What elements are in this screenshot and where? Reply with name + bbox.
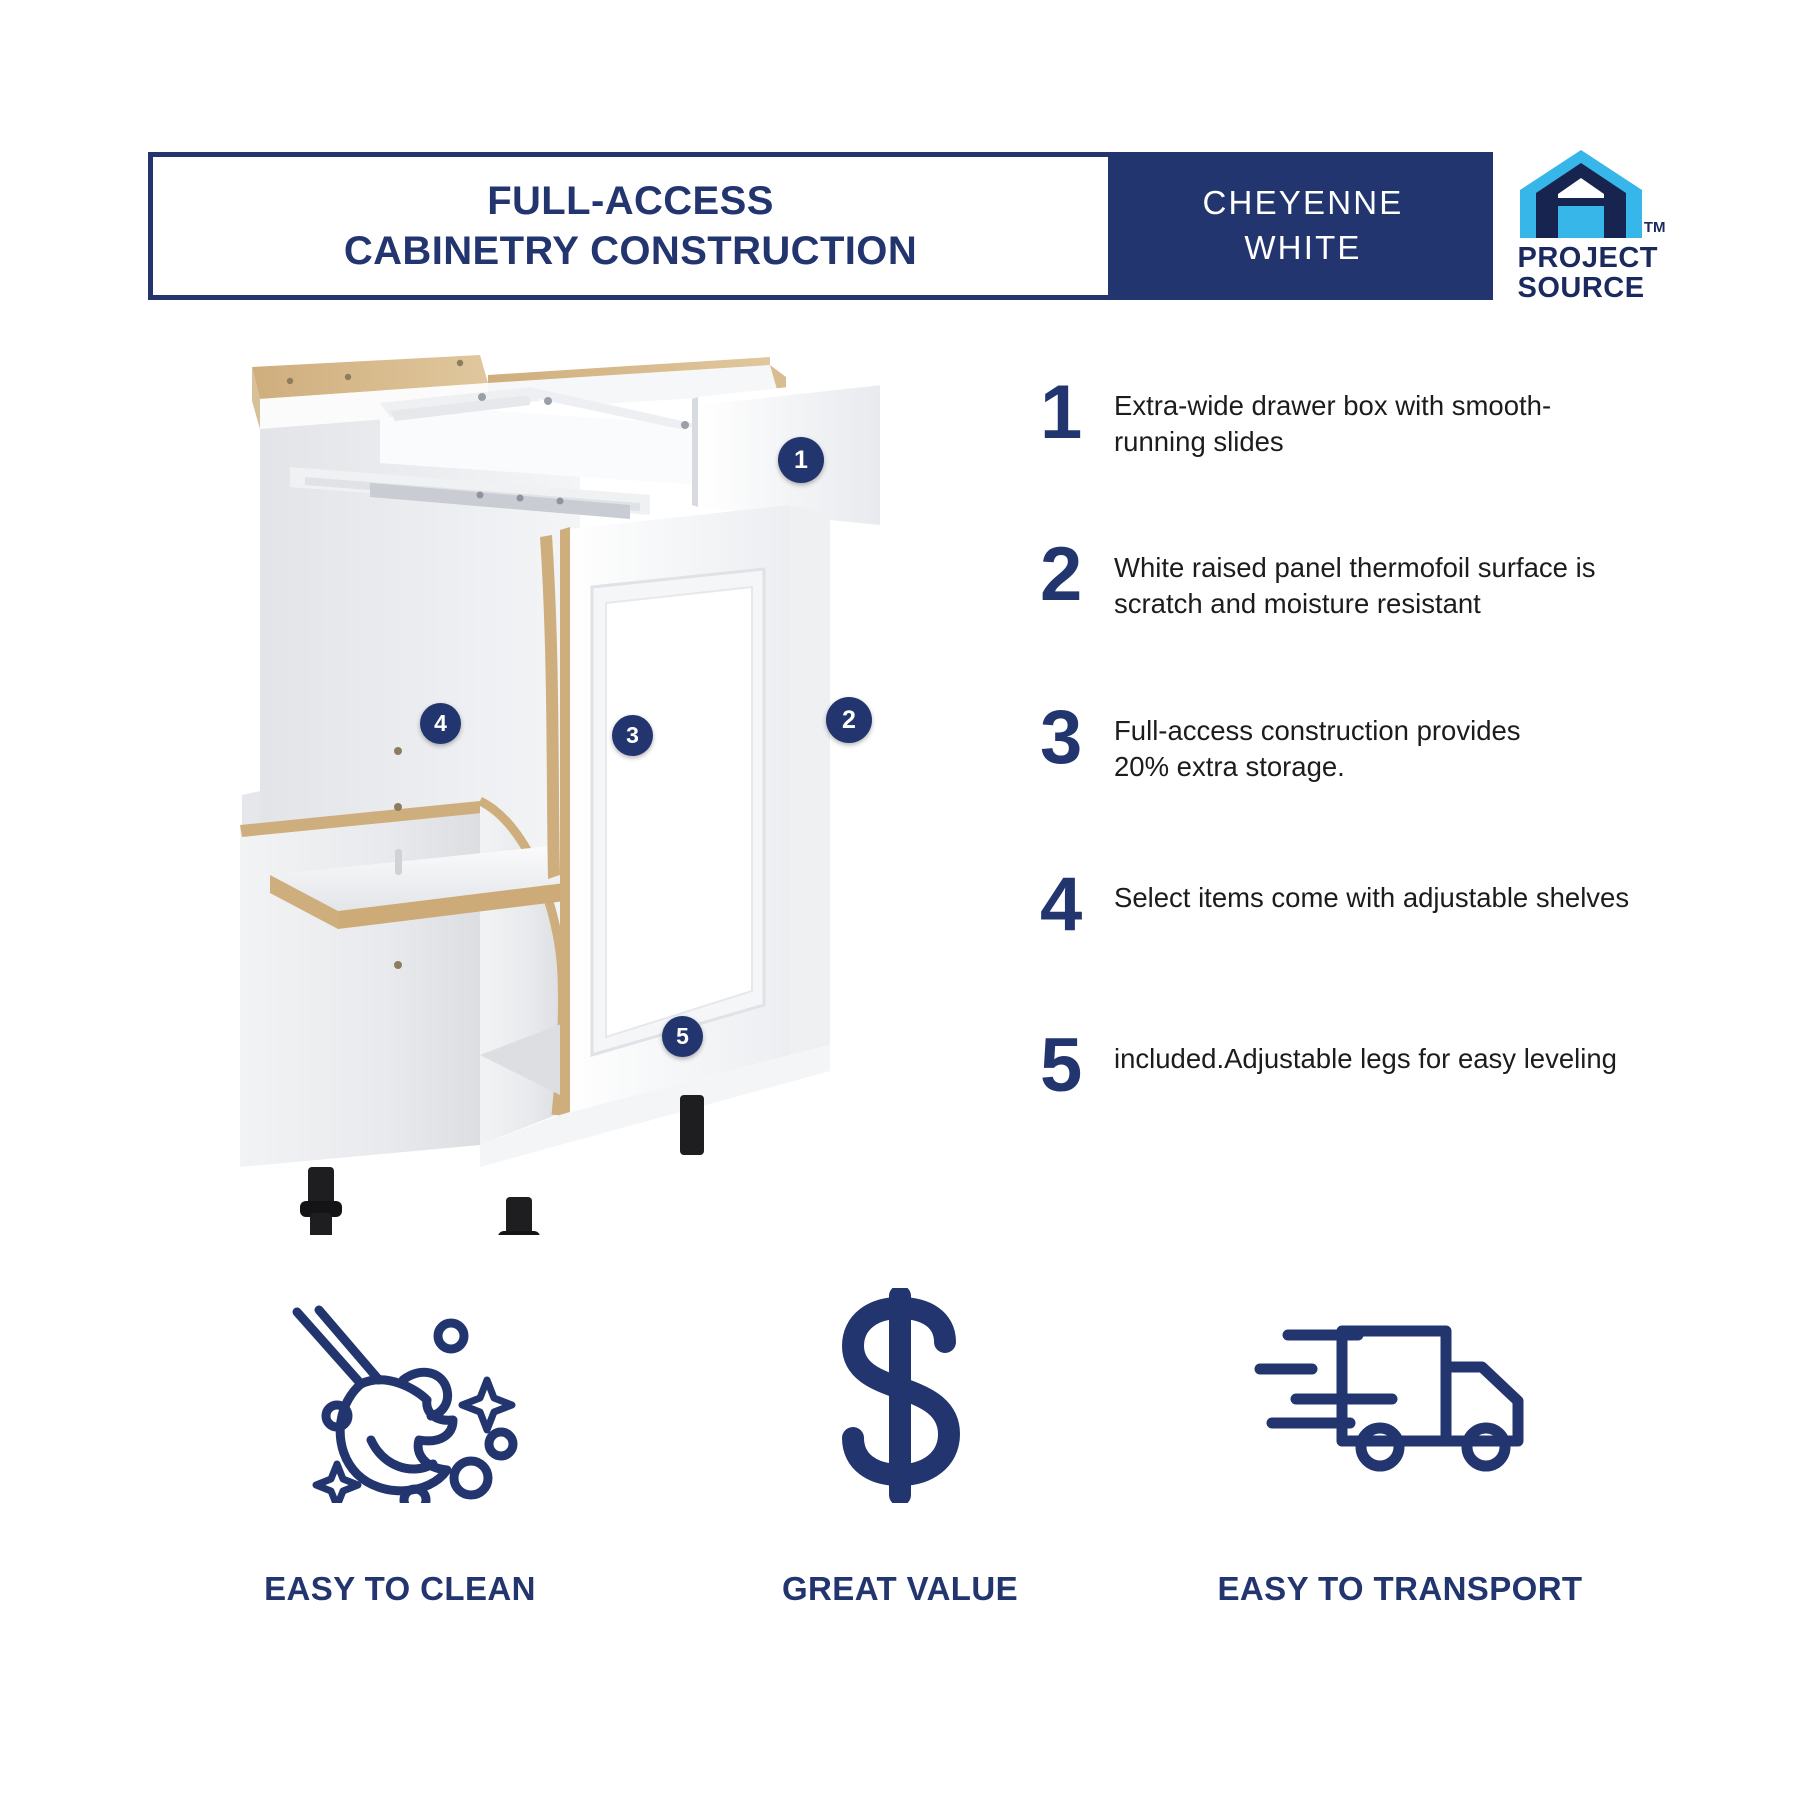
benefit-great-value: GREAT VALUE <box>650 1280 1150 1700</box>
benefit-easy-to-transport: EASY TO TRANSPORT <box>1150 1280 1650 1700</box>
feature-text-3: Full-access construction provides 20% ex… <box>1114 707 1521 786</box>
feature-item-5: 5 included.Adjustable legs for easy leve… <box>1040 1035 1617 1097</box>
trademark-symbol: TM <box>1644 219 1666 236</box>
callout-badge-3: 3 <box>612 715 653 756</box>
broom-sparkle-icon <box>275 1280 525 1510</box>
callout-badge-4-label: 4 <box>434 710 447 737</box>
brand-wordmark: PROJECT SOURCE <box>1518 244 1644 303</box>
callout-badge-5-label: 5 <box>676 1023 689 1050</box>
feature-number-1: 1 <box>1040 382 1114 444</box>
feature-number-2: 2 <box>1040 544 1114 606</box>
feature-text-5: included.Adjustable legs for easy leveli… <box>1114 1035 1617 1077</box>
finish-name: CHEYENNE WHITE <box>1203 181 1404 270</box>
callout-badge-3-label: 3 <box>626 722 639 749</box>
callout-badge-1: 1 <box>778 437 824 483</box>
feature-number-5: 5 <box>1040 1035 1114 1097</box>
page-title: FULL-ACCESS CABINETRY CONSTRUCTION <box>344 176 917 276</box>
title-box: FULL-ACCESS CABINETRY CONSTRUCTION <box>148 152 1113 300</box>
callout-badge-2: 2 <box>826 697 872 743</box>
feature-number-4: 4 <box>1040 874 1114 936</box>
project-source-house-p-icon: TM <box>1518 148 1644 240</box>
benefit-easy-to-clean: EASY TO CLEAN <box>150 1280 650 1700</box>
finish-name-box: CHEYENNE WHITE <box>1113 152 1493 300</box>
feature-text-2: White raised panel thermofoil surface is… <box>1114 544 1595 623</box>
benefit-label-easy-to-clean: EASY TO CLEAN <box>264 1570 536 1608</box>
callout-badge-5: 5 <box>662 1016 703 1057</box>
callout-badge-2-label: 2 <box>842 706 856 735</box>
benefit-label-easy-to-transport: EASY TO TRANSPORT <box>1218 1570 1583 1608</box>
benefits-row: EASY TO CLEAN GREAT VALUE <box>150 1280 1650 1700</box>
feature-item-2: 2 White raised panel thermofoil surface … <box>1040 544 1595 623</box>
feature-item-3: 3 Full-access construction provides 20% … <box>1040 707 1521 786</box>
benefit-label-great-value: GREAT VALUE <box>782 1570 1018 1608</box>
header-bar: FULL-ACCESS CABINETRY CONSTRUCTION CHEYE… <box>148 152 1654 300</box>
cabinet-cutaway-illustration: 1 2 3 4 5 <box>230 355 930 1235</box>
feature-item-4: 4 Select items come with adjustable shel… <box>1040 874 1629 936</box>
callout-badge-1-label: 1 <box>794 446 808 475</box>
brand-logo: TM PROJECT SOURCE <box>1493 152 1654 300</box>
feature-text-1: Extra-wide drawer box with smooth- runni… <box>1114 382 1551 461</box>
callout-badge-4: 4 <box>420 703 461 744</box>
feature-number-3: 3 <box>1040 707 1114 769</box>
feature-item-1: 1 Extra-wide drawer box with smooth- run… <box>1040 382 1551 461</box>
feature-text-4: Select items come with adjustable shelve… <box>1114 874 1629 916</box>
dollar-sign-icon <box>805 1280 995 1510</box>
delivery-truck-icon <box>1250 1280 1550 1510</box>
